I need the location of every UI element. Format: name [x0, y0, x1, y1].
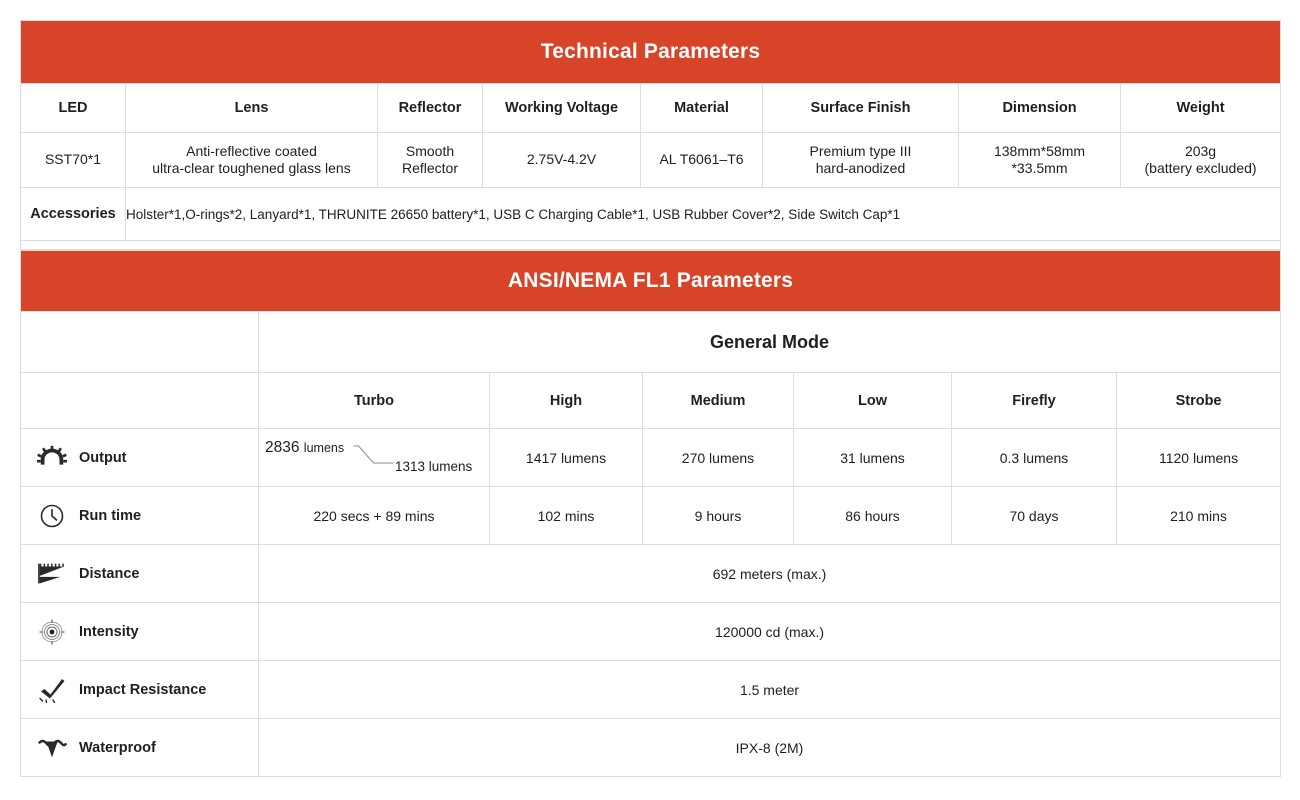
accessories-label: Accessories — [21, 188, 126, 241]
empty-corner-cell — [21, 312, 259, 373]
spec-sheet-page: Technical Parameters LED Lens Reflector … — [0, 0, 1300, 800]
value-surface-finish: Premium type III hard-anodized — [763, 133, 959, 188]
ansi-banner: ANSI/NEMA FL1 Parameters — [21, 251, 1281, 312]
value-reflector: Smooth Reflector — [378, 133, 483, 188]
technical-banner: Technical Parameters — [21, 21, 1281, 84]
output-row: Output 2836 lumens 1313 lumens 1417 lume… — [21, 429, 1281, 487]
output-turbo-value: 2836 — [265, 439, 299, 456]
value-working-voltage: 2.75V-4.2V — [483, 133, 641, 188]
runtime-low: 86 hours — [794, 487, 952, 545]
row-label-intensity-text: Intensity — [79, 624, 139, 640]
row-label-impact: Impact Resistance — [21, 661, 259, 719]
table-gap-row — [21, 241, 1281, 250]
waterproof-value: IPX-8 (2M) — [259, 719, 1281, 777]
value-weight-line1: 203g — [1121, 143, 1280, 161]
row-label-output: Output — [21, 429, 259, 487]
mode-low: Low — [794, 373, 952, 429]
clock-icon — [37, 503, 67, 529]
beam-distance-icon — [37, 561, 67, 587]
runtime-medium: 9 hours — [643, 487, 794, 545]
header-working-voltage: Working Voltage — [483, 84, 641, 133]
stepdown-connector-line — [259, 429, 489, 486]
intensity-value: 120000 cd (max.) — [259, 603, 1281, 661]
output-turbo-unit: lumens — [304, 441, 344, 455]
technical-value-row: SST70*1 Anti-reflective coated ultra-cle… — [21, 133, 1281, 188]
runtime-row: Run time 220 secs + 89 mins 102 mins 9 h… — [21, 487, 1281, 545]
intensity-row: Intensity 120000 cd (max.) — [21, 603, 1281, 661]
output-strobe: 1120 lumens — [1117, 429, 1281, 487]
output-low: 31 lumens — [794, 429, 952, 487]
mode-medium: Medium — [643, 373, 794, 429]
mode-header-spacer — [21, 373, 259, 429]
general-mode-header: General Mode — [259, 312, 1281, 373]
table-gap-cell — [21, 241, 1281, 250]
header-weight: Weight — [1121, 84, 1281, 133]
value-material: AL T6061–T6 — [641, 133, 763, 188]
header-lens: Lens — [126, 84, 378, 133]
ansi-banner-row: ANSI/NEMA FL1 Parameters — [21, 251, 1281, 312]
header-surface-finish: Surface Finish — [763, 84, 959, 133]
row-label-runtime: Run time — [21, 487, 259, 545]
row-label-distance: Distance — [21, 545, 259, 603]
row-label-runtime-text: Run time — [79, 508, 141, 524]
header-dimension: Dimension — [959, 84, 1121, 133]
output-turbo-stepdown: 1313 lumens — [395, 459, 472, 474]
waterproof-row: Waterproof IPX-8 (2M) — [21, 719, 1281, 777]
value-weight-line2: (battery excluded) — [1121, 160, 1280, 178]
row-label-waterproof: Waterproof — [21, 719, 259, 777]
value-lens-line2: ultra-clear toughened glass lens — [126, 160, 377, 178]
distance-value: 692 meters (max.) — [259, 545, 1281, 603]
mode-high: High — [490, 373, 643, 429]
technical-banner-row: Technical Parameters — [21, 21, 1281, 84]
distance-row: Distance 692 meters (max.) — [21, 545, 1281, 603]
output-turbo-cell: 2836 lumens 1313 lumens — [259, 429, 490, 487]
output-high: 1417 lumens — [490, 429, 643, 487]
waterdrop-icon — [37, 735, 67, 761]
runtime-firefly: 70 days — [952, 487, 1117, 545]
value-dimension-line2: *33.5mm — [959, 160, 1120, 178]
runtime-strobe: 210 mins — [1117, 487, 1281, 545]
row-label-intensity: Intensity — [21, 603, 259, 661]
row-label-impact-text: Impact Resistance — [79, 682, 206, 698]
impact-row: Impact Resistance 1.5 meter — [21, 661, 1281, 719]
mode-strobe: Strobe — [1117, 373, 1281, 429]
runtime-turbo: 220 secs + 89 mins — [259, 487, 490, 545]
output-firefly: 0.3 lumens — [952, 429, 1117, 487]
row-label-waterproof-text: Waterproof — [79, 740, 156, 756]
impact-value: 1.5 meter — [259, 661, 1281, 719]
value-led: SST70*1 — [21, 133, 126, 188]
row-label-distance-text: Distance — [79, 566, 139, 582]
ansi-fl1-table: ANSI/NEMA FL1 Parameters General Mode Tu… — [20, 250, 1281, 777]
accessories-row: Accessories Holster*1,O-rings*2, Lanyard… — [21, 188, 1281, 241]
impact-arrow-icon — [37, 677, 67, 703]
header-led: LED — [21, 84, 126, 133]
value-lens-line1: Anti-reflective coated — [126, 143, 377, 161]
mode-firefly: Firefly — [952, 373, 1117, 429]
header-reflector: Reflector — [378, 84, 483, 133]
mode-header-row: Turbo High Medium Low Firefly Strobe — [21, 373, 1281, 429]
technical-parameters-table: Technical Parameters LED Lens Reflector … — [20, 20, 1281, 250]
accessories-text: Holster*1,O-rings*2, Lanyard*1, THRUNITE… — [126, 188, 1281, 241]
value-weight: 203g (battery excluded) — [1121, 133, 1281, 188]
mode-turbo: Turbo — [259, 373, 490, 429]
value-surface-finish-line2: hard-anodized — [763, 160, 958, 178]
value-reflector-line1: Smooth — [378, 143, 482, 161]
sunburst-icon — [37, 445, 67, 471]
header-material: Material — [641, 84, 763, 133]
row-label-output-text: Output — [79, 450, 127, 466]
output-turbo-main: 2836 lumens — [265, 439, 344, 457]
value-reflector-line2: Reflector — [378, 160, 482, 178]
value-lens: Anti-reflective coated ultra-clear tough… — [126, 133, 378, 188]
technical-header-row: LED Lens Reflector Working Voltage Mater… — [21, 84, 1281, 133]
value-surface-finish-line1: Premium type III — [763, 143, 958, 161]
runtime-high: 102 mins — [490, 487, 643, 545]
value-dimension-line1: 138mm*58mm — [959, 143, 1120, 161]
general-mode-header-row: General Mode — [21, 312, 1281, 373]
output-medium: 270 lumens — [643, 429, 794, 487]
target-icon — [37, 619, 67, 645]
value-dimension: 138mm*58mm *33.5mm — [959, 133, 1121, 188]
